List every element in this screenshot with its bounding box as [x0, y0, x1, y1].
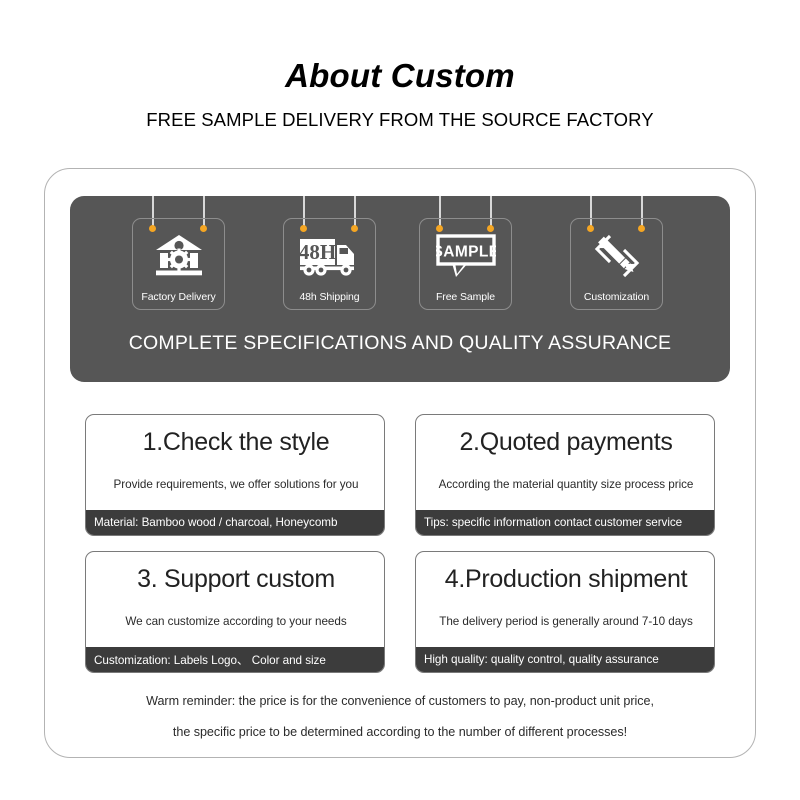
step-footer: Material: Bamboo wood / charcoal, Honeyc… — [86, 510, 385, 535]
step-footer: Customization: Labels Logo、 Color and si… — [86, 647, 385, 672]
step-footer: High quality: quality control, quality a… — [416, 647, 715, 672]
warm-reminder-note: Warm reminder: the price is for the conv… — [44, 686, 756, 748]
step-footer: Tips: specific information contact custo… — [416, 510, 715, 535]
step-card-3[interactable]: 3. Support custom We can customize accor… — [85, 551, 385, 673]
step-title: 4.Production shipment — [416, 565, 715, 594]
badge-row: Factory Delivery 48H — [70, 196, 730, 316]
step-description: Provide requirements, we offer solutions… — [86, 478, 385, 491]
step-description: According the material quantity size pro… — [416, 478, 715, 491]
page-title: About Custom — [0, 56, 800, 96]
badge-48h-shipping[interactable]: 48H 48h Shipping — [283, 218, 376, 310]
badge-customization[interactable]: Customization — [570, 218, 663, 310]
badge-caption: Factory Delivery — [132, 291, 225, 303]
step-title: 1.Check the style — [86, 428, 385, 457]
svg-text:SAMPLE: SAMPLE — [436, 244, 496, 261]
step-description: The delivery period is generally around … — [416, 615, 715, 628]
factory-gear-icon — [132, 229, 225, 283]
note-line-2: the specific price to be determined acco… — [44, 717, 756, 748]
svg-text:48H: 48H — [299, 240, 336, 264]
feature-panel: Factory Delivery 48H — [70, 196, 730, 382]
step-card-1[interactable]: 1.Check the style Provide requirements, … — [85, 414, 385, 536]
step-card-2[interactable]: 2.Quoted payments According the material… — [415, 414, 715, 536]
pencil-ruler-icon — [570, 229, 663, 283]
note-line-1: Warm reminder: the price is for the conv… — [44, 686, 756, 717]
delivery-truck-48h-icon: 48H — [283, 229, 376, 283]
header: About Custom FREE SAMPLE DELIVERY FROM T… — [0, 56, 800, 132]
badge-caption: 48h Shipping — [283, 291, 376, 303]
badge-factory-delivery[interactable]: Factory Delivery — [132, 218, 225, 310]
step-title: 2.Quoted payments — [416, 428, 715, 457]
badge-free-sample[interactable]: SAMPLE Free Sample — [419, 218, 512, 310]
panel-slogan: COMPLETE SPECIFICATIONS AND QUALITY ASSU… — [70, 332, 730, 355]
badge-caption: Free Sample — [419, 291, 512, 303]
sample-speech-bubble-icon: SAMPLE — [419, 229, 512, 283]
step-card-4[interactable]: 4.Production shipment The delivery perio… — [415, 551, 715, 673]
step-description: We can customize according to your needs — [86, 615, 385, 628]
step-title: 3. Support custom — [86, 565, 385, 594]
about-custom-infographic: About Custom FREE SAMPLE DELIVERY FROM T… — [0, 0, 800, 800]
steps-grid: 1.Check the style Provide requirements, … — [85, 414, 719, 673]
page-subtitle: FREE SAMPLE DELIVERY FROM THE SOURCE FAC… — [0, 108, 800, 132]
badge-caption: Customization — [570, 291, 663, 303]
